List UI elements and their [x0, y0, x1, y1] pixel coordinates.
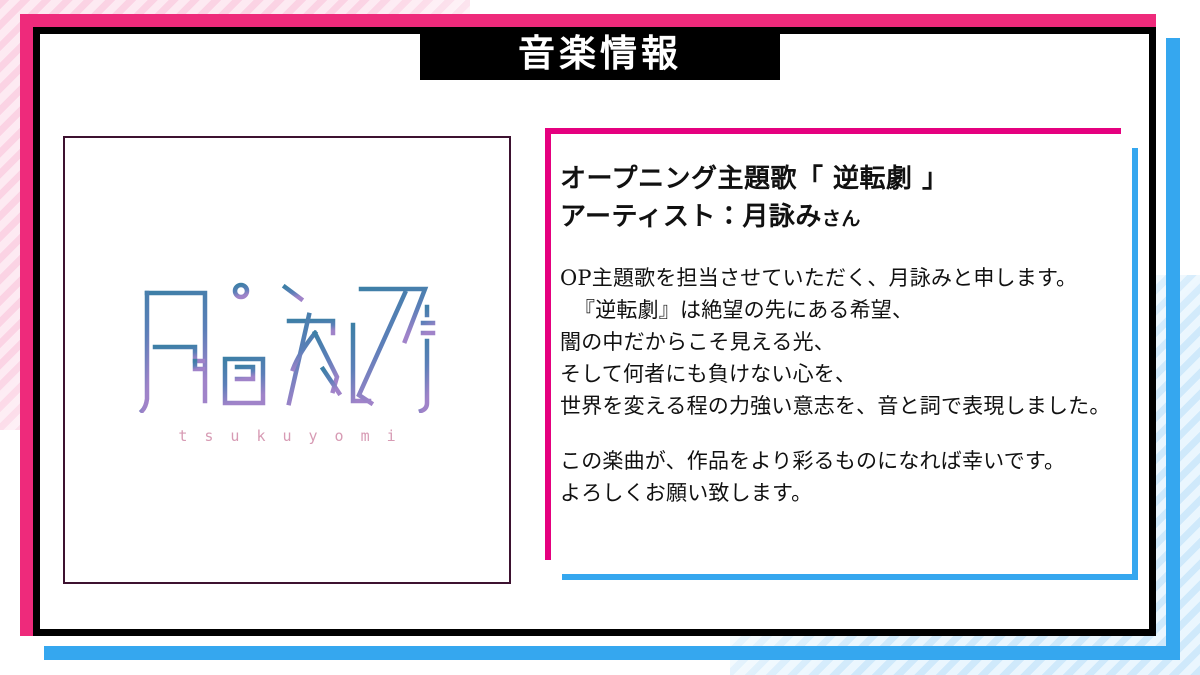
comment-line: 闇の中だからこそ見える光、 — [560, 327, 1136, 359]
comment-line: この楽曲が、作品をより彩るものになれば幸いです。 — [560, 446, 1136, 478]
artist-label: アーティスト：月詠み — [560, 202, 822, 232]
artist-logo-kanji-icon — [137, 281, 437, 413]
comment-line: 世界を変える程の力強い意志を、音と詞で表現しました。 — [560, 391, 1136, 423]
artist-logo-romaji: tsukuyomi — [161, 427, 412, 445]
artist-line: アーティスト：月詠みさん — [560, 198, 1136, 236]
comment-line: そして何者にも負けない心を、 — [560, 359, 1136, 391]
comment-line: OP主題歌を担当させていただく、月詠みと申します。 — [560, 263, 1136, 295]
opening-theme-line: オープニング主題歌「 逆転劇 」 — [560, 160, 1136, 198]
slide-stage: 音楽情報 — [0, 0, 1200, 675]
title-banner: 音楽情報 — [420, 27, 780, 80]
artist-logo: tsukuyomi — [137, 281, 437, 445]
artist-comment: OP主題歌を担当させていただく、月詠みと申します。 『逆転劇』は絶望の先にある希… — [560, 263, 1136, 510]
page-title: 音楽情報 — [518, 35, 682, 72]
comment-line: よろしくお願い致します。 — [560, 478, 1136, 510]
opening-theme-heading: オープニング主題歌「 逆転劇 」 アーティスト：月詠みさん — [560, 160, 1136, 237]
comment-paragraph-gap — [560, 422, 1136, 446]
info-panel: オープニング主題歌「 逆転劇 」 アーティスト：月詠みさん OP主題歌を担当させ… — [560, 160, 1136, 560]
artist-honorific: さん — [822, 208, 861, 230]
comment-line: 『逆転劇』は絶望の先にある希望、 — [560, 295, 1136, 327]
album-art-panel: tsukuyomi — [63, 136, 511, 584]
